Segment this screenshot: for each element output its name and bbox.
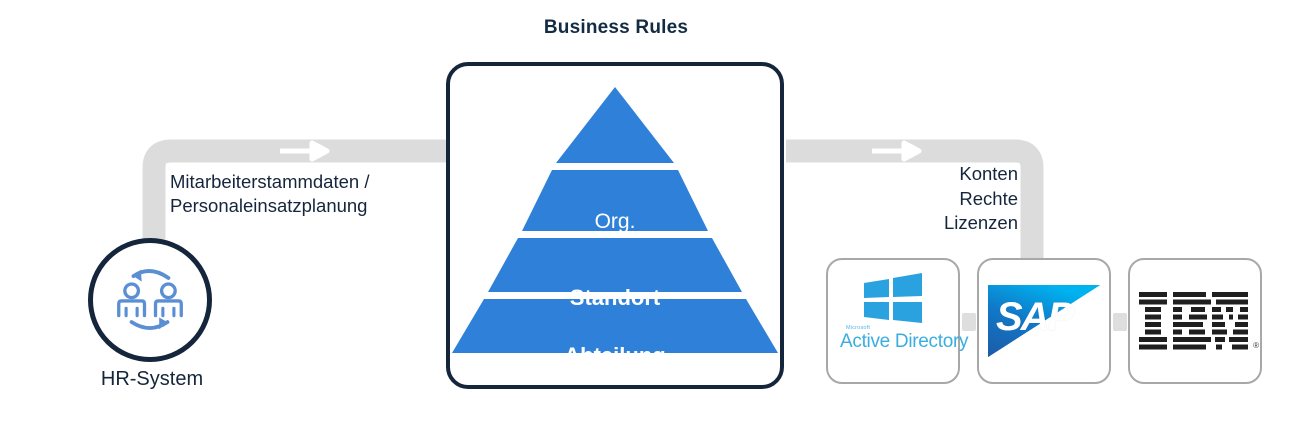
flow-label-right-line1: Konten — [868, 162, 1018, 187]
pyramid-level-4[interactable] — [452, 299, 778, 353]
diagram-canvas: Business Rules Mitarbeiterstammdaten / P… — [0, 0, 1302, 422]
sap-logo-icon: SAP ® — [988, 285, 1100, 357]
active-directory-logo: Microsoft Active Directory — [834, 273, 952, 369]
pyramid-chart: Org. Standort Abteilung Position / Funkt… — [449, 85, 781, 357]
target-box-active-directory[interactable]: Microsoft Active Directory — [826, 258, 960, 384]
flow-label-right-line2: Rechte — [868, 187, 1018, 212]
active-directory-name: Active Directory — [840, 331, 968, 353]
pyramid-level-3[interactable] — [488, 238, 742, 292]
flow-label-left-line2: Personaleinsatzplanung — [170, 194, 432, 218]
hr-system-circle — [88, 238, 212, 362]
hr-system-label: HR-System — [72, 368, 232, 391]
flow-label-right-line3: Lizenzen — [868, 211, 1018, 236]
pyramid-level-2[interactable] — [522, 170, 708, 231]
sap-registered-mark: ® — [1082, 344, 1088, 353]
ibm-registered-mark: ® — [1253, 341, 1259, 350]
windows-flag-icon — [834, 273, 952, 369]
target-box-sap[interactable]: SAP ® — [977, 258, 1111, 384]
hr-people-sync-icon — [93, 243, 207, 357]
box-connector-2 — [1113, 313, 1127, 331]
sap-wordmark: SAP — [996, 295, 1072, 340]
flow-label-right: Konten Rechte Lizenzen — [868, 162, 1018, 236]
flow-label-left: Mitarbeiterstammdaten / Personaleinsatzp… — [170, 170, 432, 219]
target-box-ibm[interactable]: ® — [1128, 258, 1262, 384]
hr-system-node[interactable]: HR-System — [88, 238, 216, 362]
pyramid-level-1[interactable] — [556, 87, 674, 163]
box-connector-1 — [962, 313, 976, 331]
flow-label-left-line1: Mitarbeiterstammdaten / — [170, 170, 432, 194]
ibm-logo-icon: ® — [1137, 290, 1253, 352]
